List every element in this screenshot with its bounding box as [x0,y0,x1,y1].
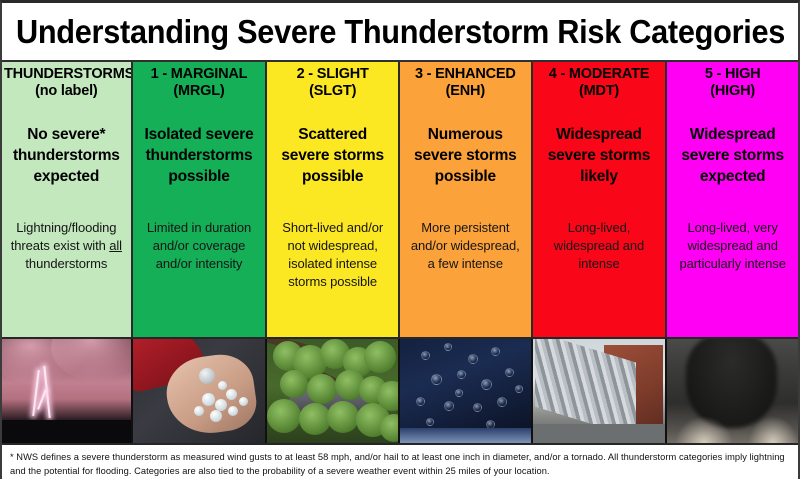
summary-line: possible [137,166,262,187]
photo-detail [228,406,238,416]
summary-line: severe storms [404,145,527,166]
description-line: not widespread, [273,237,392,255]
category-description-5: Long-lived, verywidespread andparticular… [667,215,798,337]
photo-detail [457,370,466,379]
category-description-2: Short-lived and/ornot widespread,isolate… [267,215,398,337]
photo-detail [421,351,430,360]
photo-detail [364,341,396,373]
summary-line: thunderstorms [137,145,262,166]
hail-dented-hood-photo [400,339,533,443]
emphasized-word: all [109,238,122,253]
category-abbrev-5: (HIGH) [669,83,796,100]
photo-detail [533,424,666,443]
photo-detail [210,410,222,422]
category-summary-1: Isolated severethunderstormspossible [133,118,266,215]
category-name-5: 5 - HIGH [705,66,761,82]
category-column-5: 5 - HIGH(HIGH)Widespreadsevere stormsexp… [667,62,798,337]
category-column-0: THUNDERSTORMS(no label)No severe*thunder… [2,62,133,337]
category-description-0: Lightning/floodingthreats exist with all… [2,215,131,337]
category-abbrev-3: (ENH) [402,83,529,100]
category-abbrev-2: (SLGT) [269,83,396,100]
photo-detail [416,397,425,406]
category-summary-5: Widespreadsevere stormsexpected [667,118,798,215]
summary-line: Widespread [537,124,662,145]
category-header-0: THUNDERSTORMS(no label) [2,62,131,118]
category-header-5: 5 - HIGH(HIGH) [667,62,798,118]
category-description-4: Long-lived,widespread andintense [533,215,666,337]
photo-detail [444,343,452,351]
photo-detail [299,403,331,435]
description-line: Long-lived, very [673,219,792,237]
summary-line: Isolated severe [137,124,262,145]
description-line: Lightning/flooding [8,219,125,237]
description-line: and/or coverage [139,237,260,255]
photo-detail [199,368,215,384]
photo-detail [194,406,204,416]
description-line: and/or widespread, [406,237,525,255]
category-column-4: 4 - MODERATE(MDT)Widespreadsevere storms… [533,62,668,337]
category-column-1: 1 - MARGINAL(MRGL)Isolated severethunder… [133,62,268,337]
risk-categories-infographic: Understanding Severe Thunderstorm Risk C… [0,0,800,479]
photo-detail [505,368,514,377]
hail-in-hand-photo [133,339,268,443]
category-abbrev-0: (no label) [4,83,129,100]
summary-line: Scattered [271,124,394,145]
category-description-1: Limited in durationand/or coverageand/or… [133,215,266,337]
description-line: storms possible [273,273,392,291]
description-line: widespread and [539,237,660,255]
page-title: Understanding Severe Thunderstorm Risk C… [15,15,784,49]
tornado-photo [667,339,798,443]
category-header-4: 4 - MODERATE(MDT) [533,62,666,118]
photo-detail [377,381,400,411]
summary-line: possible [271,166,394,187]
category-name-2: 2 - SLIGHT [297,66,369,82]
photo-strip [2,337,798,445]
description-line: widespread and [673,237,792,255]
photo-detail [426,418,434,426]
photo-detail [748,416,798,443]
description-line: Limited in duration [139,219,260,237]
category-header-3: 3 - ENHANCED(ENH) [400,62,531,118]
category-name-3: 3 - ENHANCED [415,66,516,82]
description-line: More persistent [406,219,525,237]
category-name-0: THUNDERSTORMS [4,66,133,82]
description-line: intense [539,255,660,273]
description-line: thunderstorms [8,255,125,273]
category-abbrev-4: (MDT) [535,83,664,100]
photo-detail [380,414,400,442]
photo-detail [218,381,227,390]
category-description-3: More persistentand/or widespread,a few i… [400,215,531,337]
photo-detail [307,374,337,404]
tree-on-car-photo [267,339,400,443]
category-column-3: 3 - ENHANCED(ENH)Numeroussevere stormspo… [400,62,533,337]
description-line: Long-lived, [539,219,660,237]
photo-detail [675,416,732,443]
summary-line: Widespread [671,124,794,145]
category-name-1: 1 - MARGINAL [151,66,248,82]
summary-line: severe storms [271,145,394,166]
category-header-2: 2 - SLIGHT(SLGT) [267,62,398,118]
category-column-2: 2 - SLIGHT(SLGT)Scatteredsevere stormspo… [267,62,400,337]
title-bar: Understanding Severe Thunderstorm Risk C… [2,3,798,62]
description-line: particularly intense [673,255,792,273]
photo-detail [327,401,359,433]
category-summary-2: Scatteredsevere stormspossible [267,118,398,215]
photo-detail [267,399,301,433]
footnote: * NWS defines a severe thunderstorm as m… [2,445,798,479]
photo-detail [491,347,500,356]
summary-line: severe storms [537,145,662,166]
photo-detail [444,401,454,411]
category-summary-4: Widespreadsevere stormslikely [533,118,666,215]
photo-detail [226,389,237,400]
category-summary-3: Numeroussevere stormspossible [400,118,531,215]
description-line: Short-lived and/or [273,219,392,237]
category-name-4: 4 - MODERATE [549,66,649,82]
summary-line: expected [6,166,127,187]
photo-detail [455,389,463,397]
category-columns: THUNDERSTORMS(no label)No severe*thunder… [2,62,798,337]
photo-detail [2,420,131,443]
photo-detail [497,397,507,407]
summary-line: severe storms [671,145,794,166]
summary-line: Numerous [404,124,527,145]
category-header-1: 1 - MARGINAL(MRGL) [133,62,266,118]
photo-detail [468,354,478,364]
photo-detail [400,428,531,443]
category-abbrev-1: (MRGL) [135,83,264,100]
category-summary-0: No severe*thunderstormsexpected [2,118,131,215]
photo-detail [37,389,47,409]
description-line: threats exist with all [8,237,125,255]
summary-line: No severe* [6,124,127,145]
photo-detail [431,374,442,385]
photo-detail [239,397,248,406]
lightning-photo [2,339,133,443]
photo-detail [515,385,523,393]
summary-line: thunderstorms [6,145,127,166]
photo-detail [473,403,482,412]
photo-detail [481,379,492,390]
description-line: and/or intensity [139,255,260,273]
summary-line: expected [671,166,794,187]
photo-detail [202,393,215,406]
roof-damage-photo [533,339,668,443]
description-line: a few intense [406,255,525,273]
summary-line: likely [537,166,662,187]
description-line: isolated intense [273,255,392,273]
summary-line: possible [404,166,527,187]
